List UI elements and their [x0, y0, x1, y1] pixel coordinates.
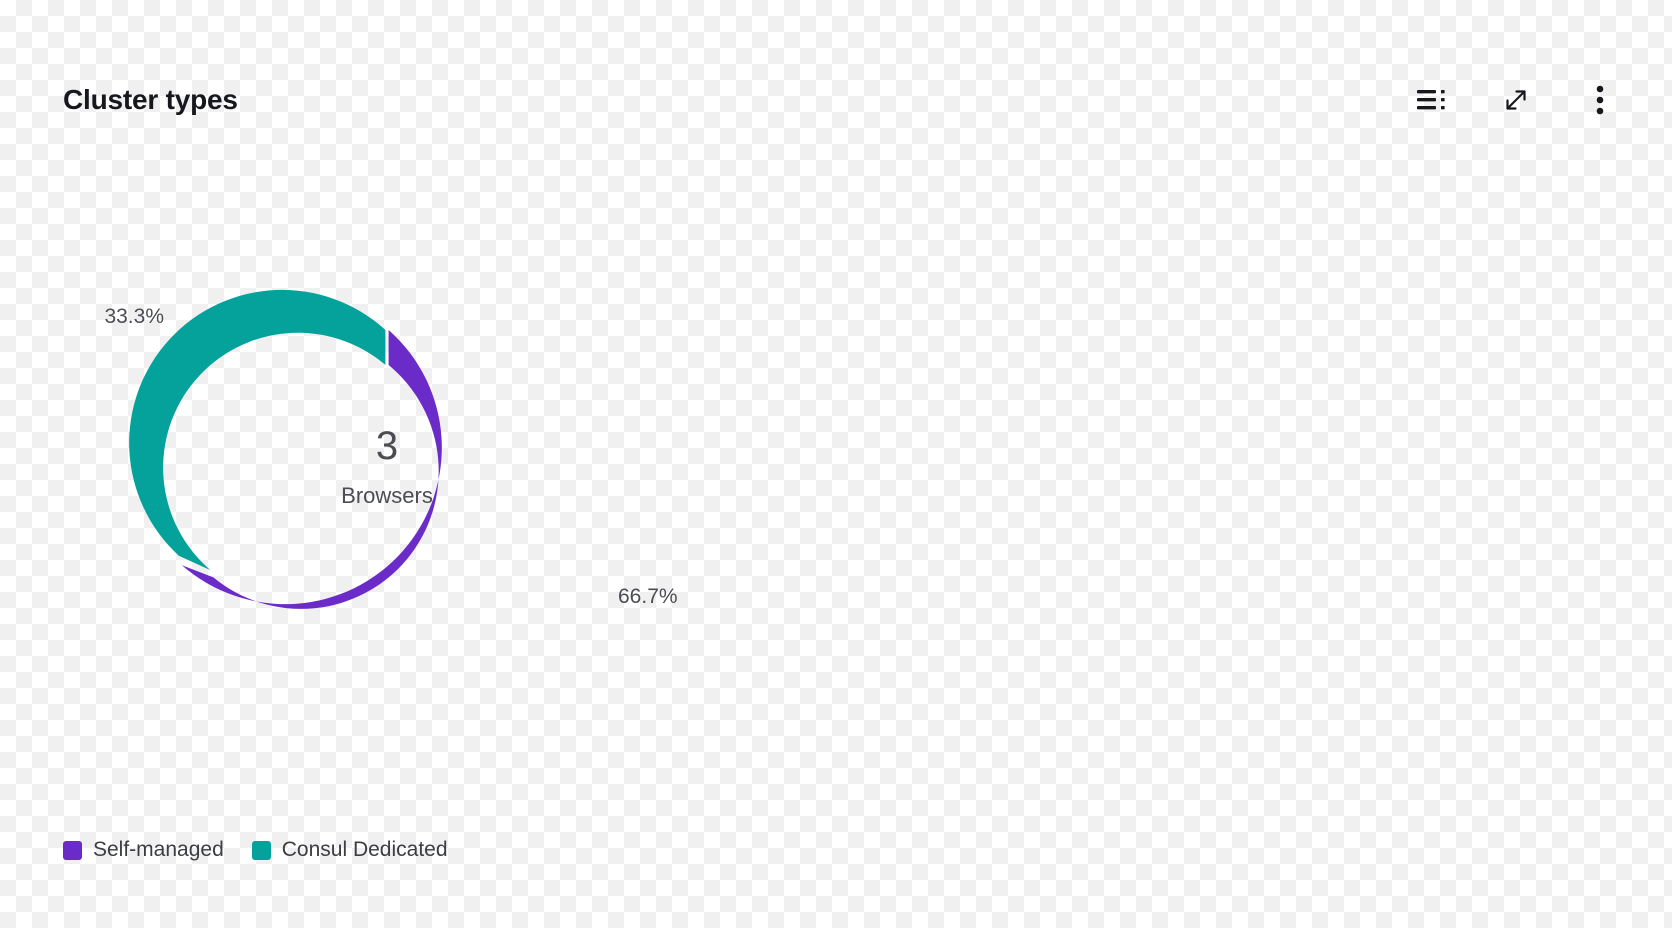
- page-title: Cluster types: [63, 86, 238, 114]
- chart-legend: Self-managed Consul Dedicated: [63, 838, 448, 862]
- more-options-button[interactable]: [1583, 83, 1617, 117]
- card-header: Cluster types: [63, 70, 1617, 130]
- legend-swatch-self-managed: [63, 841, 82, 860]
- legend-swatch-consul-dedicated: [252, 841, 271, 860]
- legend-item-consul-dedicated[interactable]: Consul Dedicated: [252, 838, 448, 862]
- legend-item-self-managed[interactable]: Self-managed: [63, 838, 224, 862]
- donut-center-value: 3: [376, 424, 398, 468]
- cluster-types-card: Cluster types: [0, 0, 1672, 928]
- donut-slice-consul-dedicated[interactable]: [129, 290, 385, 570]
- donut-center-label: Browsers: [341, 483, 433, 508]
- slice-label-consul-dedicated: 33.3%: [104, 305, 164, 328]
- legend-label-self-managed: Self-managed: [93, 838, 224, 862]
- donut-chart-svg: 3 Browsers 66.7% 33.3%: [0, 150, 860, 780]
- legend-label-consul-dedicated: Consul Dedicated: [282, 838, 448, 862]
- expand-button[interactable]: [1499, 83, 1533, 117]
- donut-slice-self-managed[interactable]: [182, 330, 442, 609]
- donut-chart: 3 Browsers 66.7% 33.3%: [0, 150, 860, 780]
- view-as-table-icon: [1417, 87, 1447, 113]
- slice-label-self-managed: 66.7%: [618, 585, 678, 608]
- header-actions: [1415, 83, 1617, 117]
- view-as-table-button[interactable]: [1415, 83, 1449, 117]
- more-options-icon: [1596, 85, 1604, 115]
- expand-icon: [1501, 85, 1531, 115]
